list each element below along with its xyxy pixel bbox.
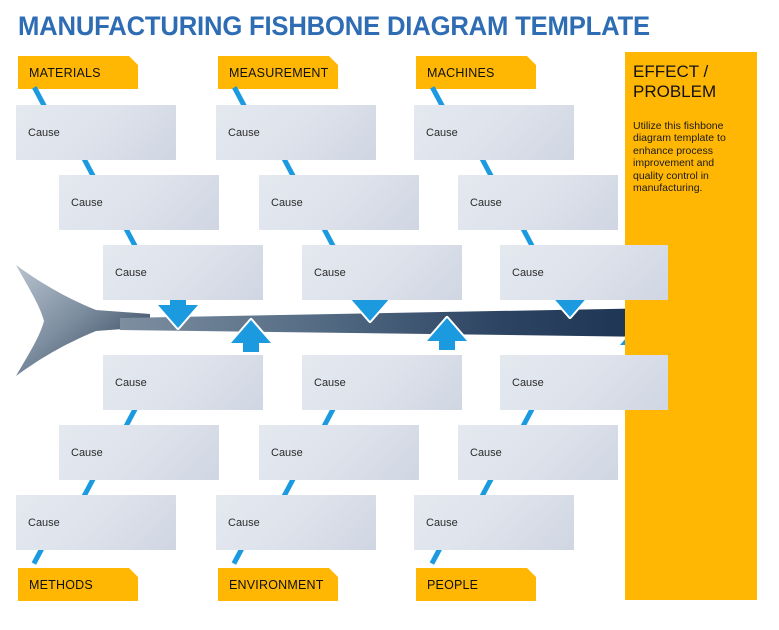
cause-box[interactable]: Cause	[59, 425, 219, 480]
cause-box-label: Cause	[103, 377, 147, 389]
page-title: MANUFACTURING FISHBONE DIAGRAM TEMPLATE	[18, 11, 650, 42]
category-tab-label: METHODS	[18, 578, 93, 592]
cause-box-label: Cause	[103, 267, 147, 279]
cause-box[interactable]: Cause	[414, 495, 574, 550]
cause-box[interactable]: Cause	[59, 175, 219, 230]
category-tab-label: MATERIALS	[18, 66, 101, 80]
cause-box[interactable]: Cause	[103, 355, 263, 410]
cause-box-label: Cause	[59, 447, 103, 459]
cause-box[interactable]: Cause	[259, 425, 419, 480]
category-tab-methods[interactable]: METHODS	[18, 568, 138, 601]
spine-arrow-up-2	[427, 318, 467, 350]
cause-box-label: Cause	[500, 377, 544, 389]
cause-box-label: Cause	[16, 517, 60, 529]
cause-box-label: Cause	[458, 197, 502, 209]
cause-box-label: Cause	[59, 197, 103, 209]
cause-box[interactable]: Cause	[16, 495, 176, 550]
category-tab-label: MACHINES	[416, 66, 495, 80]
category-tab-label: MEASUREMENT	[218, 66, 328, 80]
cause-box[interactable]: Cause	[414, 105, 574, 160]
cause-box-label: Cause	[216, 517, 260, 529]
cause-box[interactable]: Cause	[16, 105, 176, 160]
cause-box[interactable]: Cause	[302, 245, 462, 300]
cause-box[interactable]: Cause	[500, 355, 668, 410]
cause-box-label: Cause	[259, 197, 303, 209]
cause-box[interactable]: Cause	[500, 245, 668, 300]
cause-box-label: Cause	[414, 127, 458, 139]
cause-box[interactable]: Cause	[458, 175, 618, 230]
cause-box-label: Cause	[458, 447, 502, 459]
cause-box-label: Cause	[302, 267, 346, 279]
category-tab-machines[interactable]: MACHINES	[416, 56, 536, 89]
category-tab-materials[interactable]: MATERIALS	[18, 56, 138, 89]
cause-box-label: Cause	[302, 377, 346, 389]
cause-box-label: Cause	[216, 127, 260, 139]
category-tab-environment[interactable]: ENVIRONMENT	[218, 568, 338, 601]
cause-box-label: Cause	[500, 267, 544, 279]
effect-heading-line-2: PROBLEM	[633, 82, 751, 102]
spine-arrow-up-1	[231, 320, 271, 352]
cause-box-label: Cause	[16, 127, 60, 139]
effect-problem-heading: EFFECT / PROBLEM	[633, 62, 751, 102]
cause-box[interactable]: Cause	[216, 495, 376, 550]
effect-heading-line-1: EFFECT /	[633, 62, 751, 82]
category-tab-people[interactable]: PEOPLE	[416, 568, 536, 601]
cause-box[interactable]: Cause	[302, 355, 462, 410]
cause-box[interactable]: Cause	[259, 175, 419, 230]
cause-box[interactable]: Cause	[458, 425, 618, 480]
category-tab-measurement[interactable]: MEASUREMENT	[218, 56, 338, 89]
category-tab-label: PEOPLE	[416, 578, 478, 592]
category-tab-label: ENVIRONMENT	[218, 578, 324, 592]
cause-box[interactable]: Cause	[216, 105, 376, 160]
spine-arrow-down-1	[158, 296, 198, 328]
cause-box-label: Cause	[259, 447, 303, 459]
cause-box-label: Cause	[414, 517, 458, 529]
effect-problem-description: Utilize this fishbone diagram template t…	[633, 120, 745, 194]
cause-box[interactable]: Cause	[103, 245, 263, 300]
fishbone-diagram-canvas: MANUFACTURING FISHBONE DIAGRAM TEMPLATE	[0, 0, 779, 630]
fish-spine	[120, 308, 660, 337]
